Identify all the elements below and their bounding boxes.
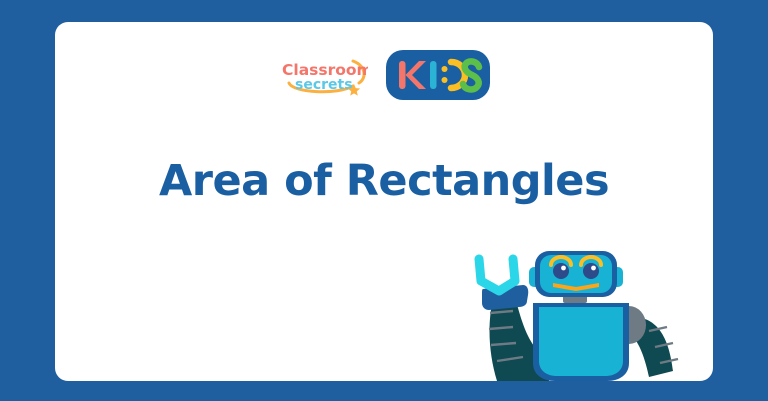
classroom-secrets-logo[interactable]: Classroom secrets [278, 53, 368, 97]
robot-right-eye [583, 263, 599, 279]
kids-letter-i [430, 61, 437, 89]
robot-claw-hand [479, 259, 515, 291]
waving-robot-mascot [453, 251, 713, 381]
kids-logo[interactable] [386, 50, 490, 100]
brand-logo-row: Classroom secrets [55, 50, 713, 100]
robot-torso [533, 303, 629, 381]
secrets-word: secrets [295, 77, 353, 93]
slide-canvas: Classroom secrets [0, 0, 768, 401]
slide-card: Classroom secrets [55, 22, 713, 381]
robot-left-eye [553, 263, 569, 279]
page-title: Area of Rectangles [55, 158, 713, 205]
classroom-word: Classroom [282, 61, 368, 79]
robot-head [529, 251, 623, 297]
